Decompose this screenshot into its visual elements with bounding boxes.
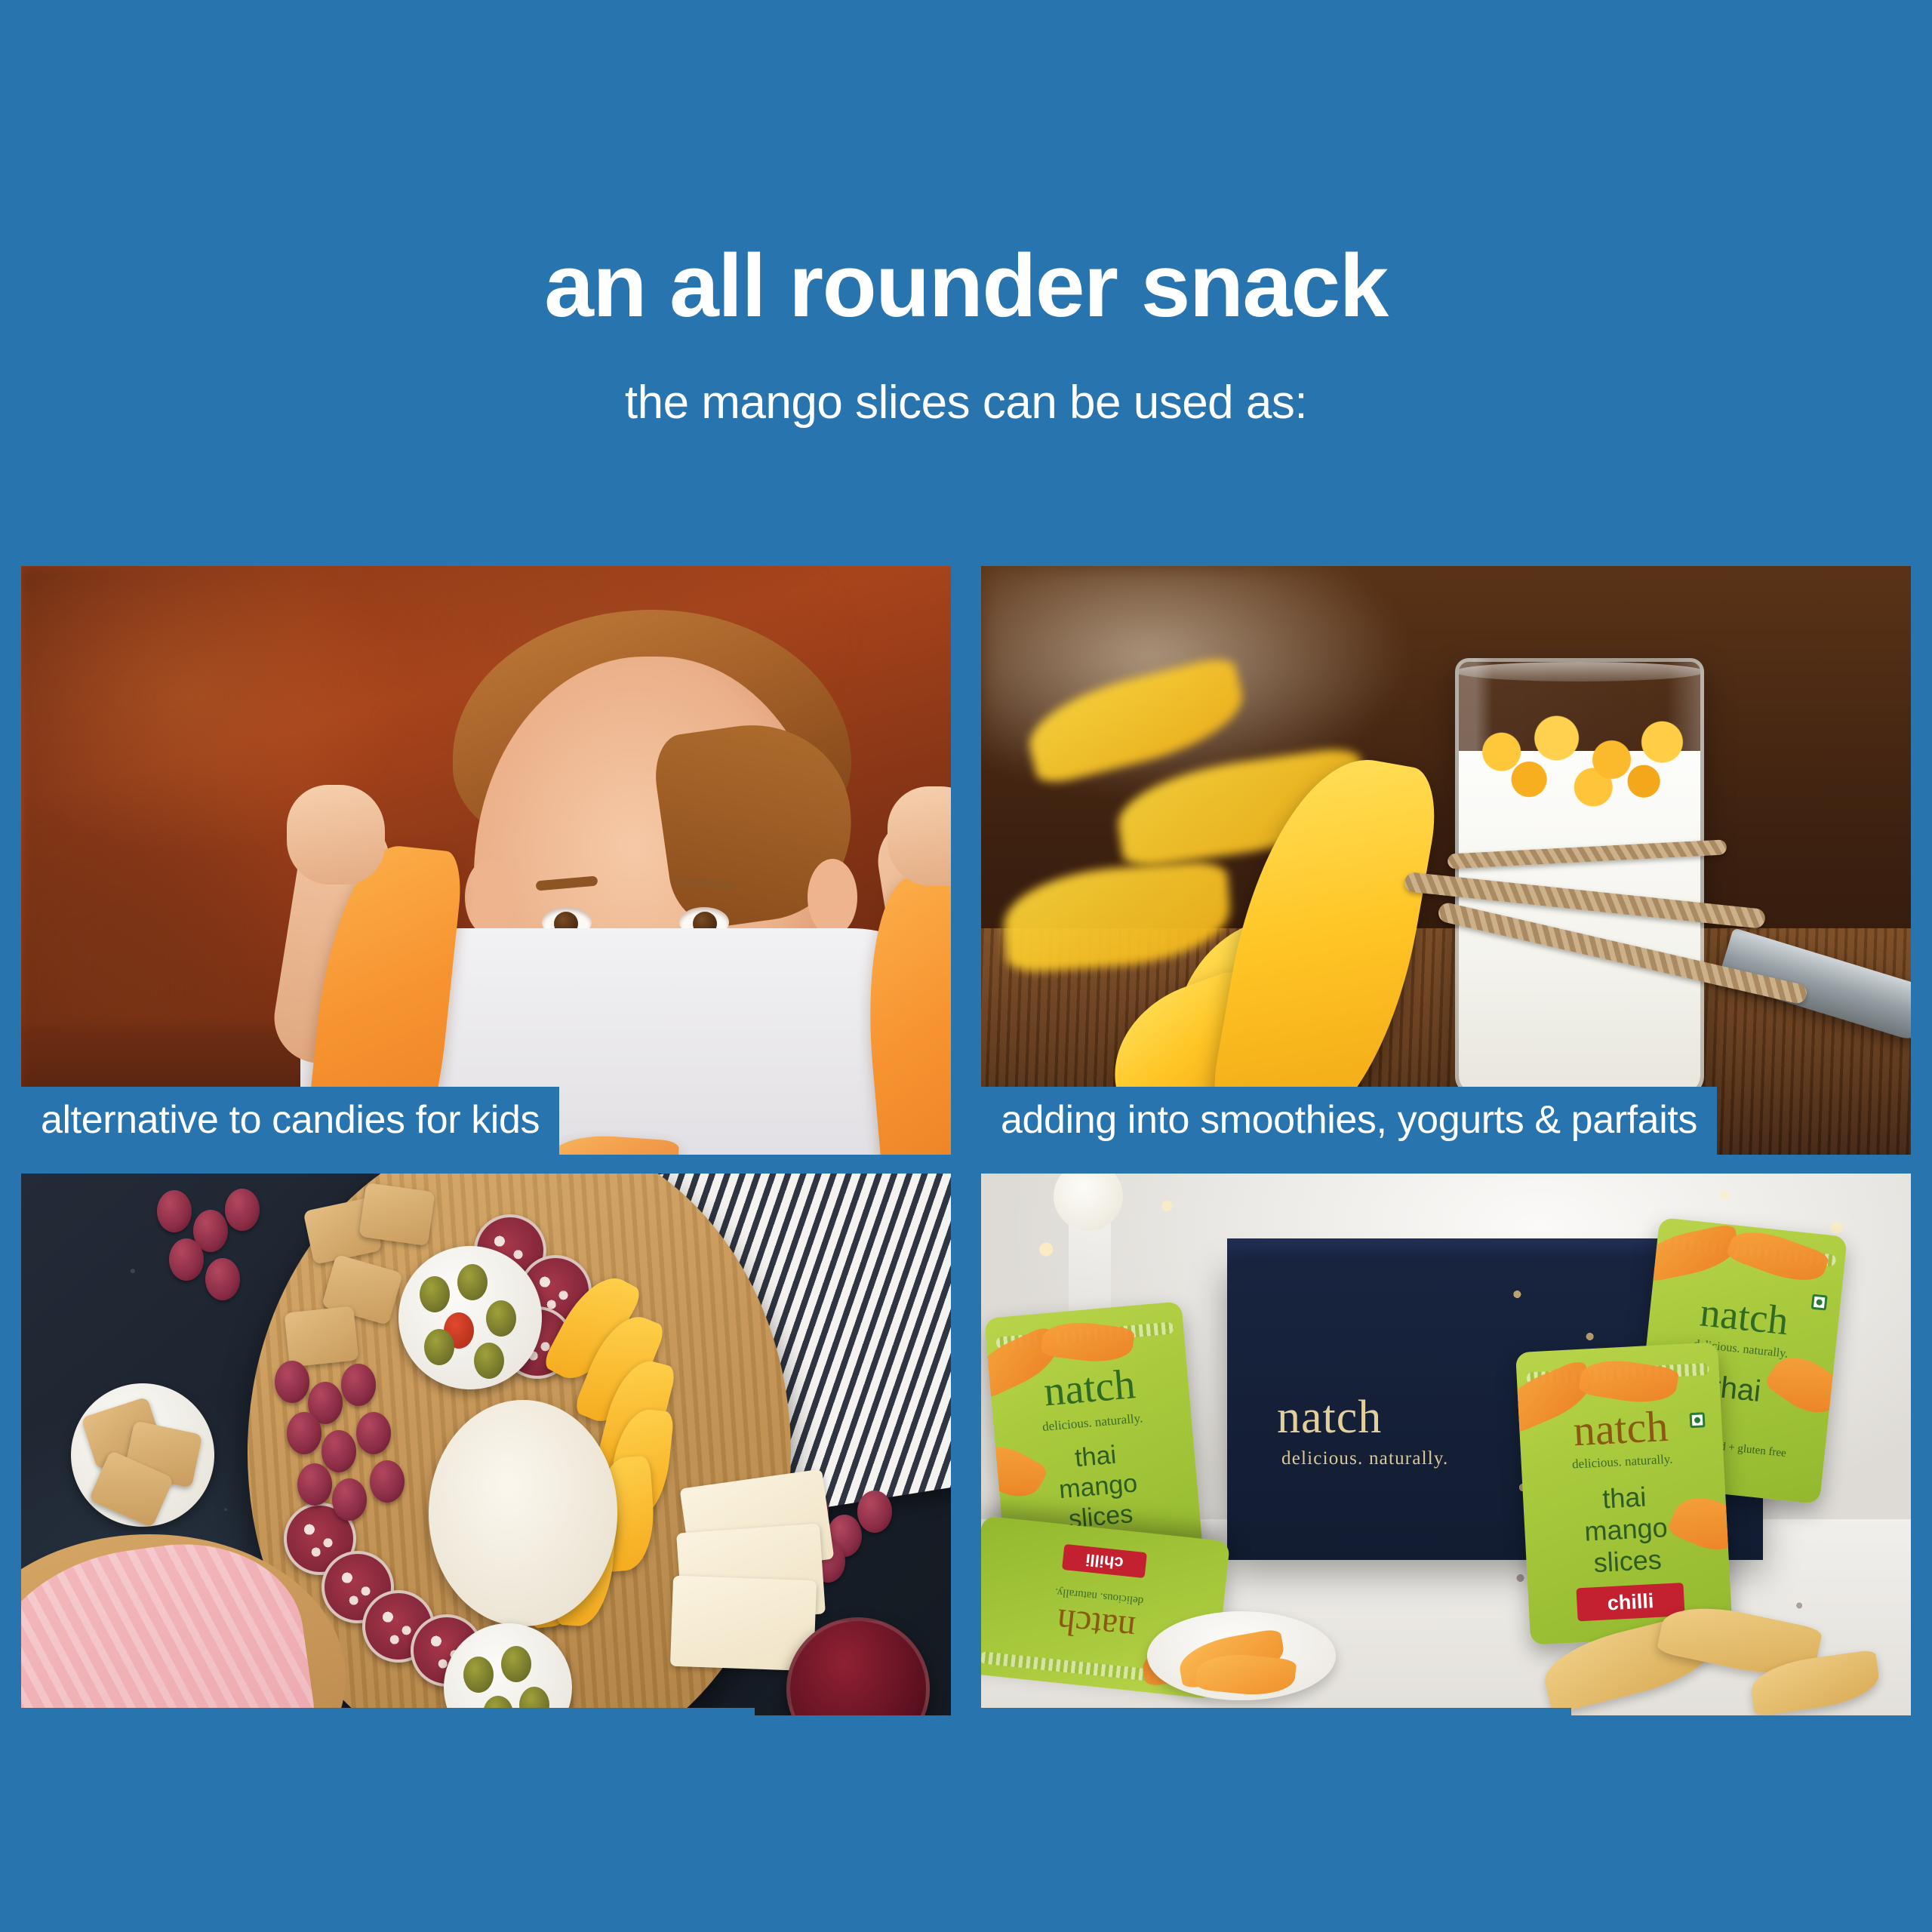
panel-caption-kids: alternative to candies for kids [21,1087,559,1155]
panel-smoothies[interactable]: adding into smoothies, yogurts & parfait… [981,566,1911,1155]
page-subtitle: the mango slices can be used as: [0,376,1932,429]
product-pouch-chilli: natch delicious. naturally. thai mango s… [1515,1342,1733,1644]
panel-caption-gifting: premium gifting for all occasions [981,1708,1571,1715]
gift-box-brand: natch [1277,1391,1382,1444]
panel-caption-smoothies: adding into smoothies, yogurts & parfait… [981,1087,1717,1155]
photo-premium-gift-box: natch delicious. naturally. natch delici… [981,1174,1911,1715]
gift-box-tagline: delicious. naturally. [1281,1448,1448,1469]
panel-party[interactable]: party snacks / charcuterie board additio… [21,1174,951,1715]
photo-child-with-mango-slices [21,566,951,1155]
pouch-variant-chilli-lying: chilli [1062,1544,1147,1578]
panel-kids[interactable]: alternative to candies for kids [21,566,951,1155]
panel-caption-party: party snacks / charcuterie board additio… [21,1708,755,1715]
panel-gifting[interactable]: natch delicious. naturally. natch delici… [981,1174,1911,1715]
pouch-brand-chilli: natch [1518,1398,1723,1459]
photo-charcuterie-board [21,1174,951,1715]
usage-panel-grid: alternative to candies for kids adding i… [21,566,1911,1715]
photo-yogurt-parfait-with-mango [981,566,1911,1155]
page-title: an all rounder snack [0,240,1932,334]
header: an all rounder snack the mango slices ca… [0,0,1932,429]
